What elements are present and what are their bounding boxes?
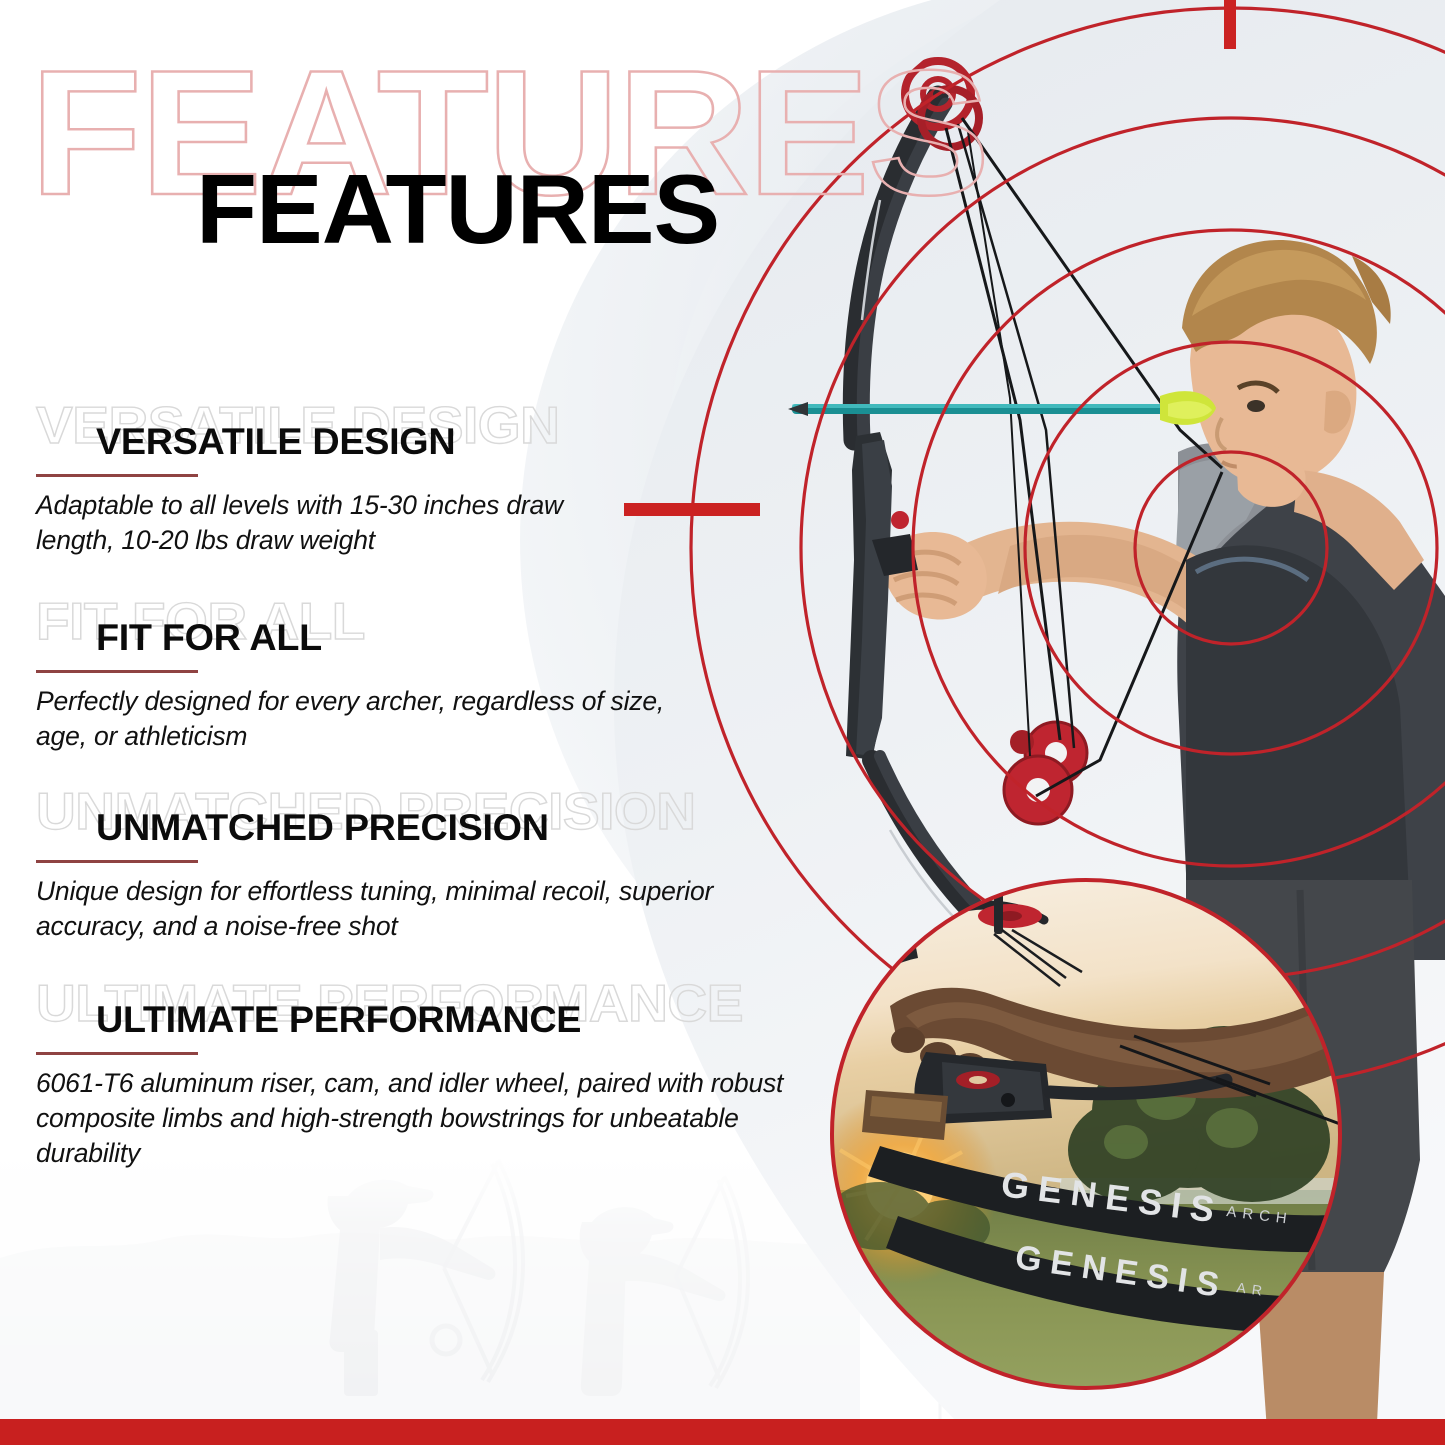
feature-rule bbox=[36, 474, 198, 477]
feature-rule bbox=[36, 1052, 198, 1055]
page-title: FEATURES bbox=[196, 160, 719, 258]
red-crosshair-tick-top bbox=[1224, 0, 1236, 49]
feature-heading: VERSATILE DESIGN bbox=[96, 423, 455, 460]
feature-heading: ULTIMATE PERFORMANCE bbox=[96, 1001, 581, 1038]
feature-body: 6061-T6 aluminum riser, cam, and idler w… bbox=[36, 1066, 806, 1172]
feature-item-unmatched-precision: UNMATCHED PRECISION UNMATCHED PRECISION … bbox=[0, 790, 830, 854]
bottom-accent-bar bbox=[0, 1419, 1445, 1445]
faded-archer-silhouettes bbox=[0, 1150, 860, 1420]
feature-heading: FIT FOR ALL bbox=[96, 619, 322, 656]
feature-body: Adaptable to all levels with 15-30 inche… bbox=[36, 488, 636, 558]
feature-item-ultimate-performance: ULTIMATE PERFORMANCE ULTIMATE PERFORMANC… bbox=[0, 982, 830, 1046]
feature-rule bbox=[36, 670, 198, 673]
feature-heading-block: FIT FOR ALL FIT FOR ALL bbox=[0, 600, 830, 664]
feature-item-fit-for-all: FIT FOR ALL FIT FOR ALL Perfectly design… bbox=[0, 600, 830, 664]
feature-heading-block: VERSATILE DESIGN VERSATILE DESIGN bbox=[0, 404, 830, 468]
feature-item-versatile-design: VERSATILE DESIGN VERSATILE DESIGN Adapta… bbox=[0, 404, 830, 468]
feature-body: Unique design for effortless tuning, min… bbox=[36, 874, 736, 944]
feature-heading-block: UNMATCHED PRECISION UNMATCHED PRECISION bbox=[0, 790, 830, 854]
feature-heading: UNMATCHED PRECISION bbox=[96, 809, 549, 846]
feature-rule bbox=[36, 860, 198, 863]
feature-body: Perfectly designed for every archer, reg… bbox=[36, 684, 686, 754]
feature-heading-block: ULTIMATE PERFORMANCE ULTIMATE PERFORMANC… bbox=[0, 982, 830, 1046]
infographic-canvas: GENESIS ARCH GENESIS AR FEATURES FEATURE… bbox=[0, 0, 1445, 1445]
red-crosshair-bar-left bbox=[624, 503, 760, 516]
